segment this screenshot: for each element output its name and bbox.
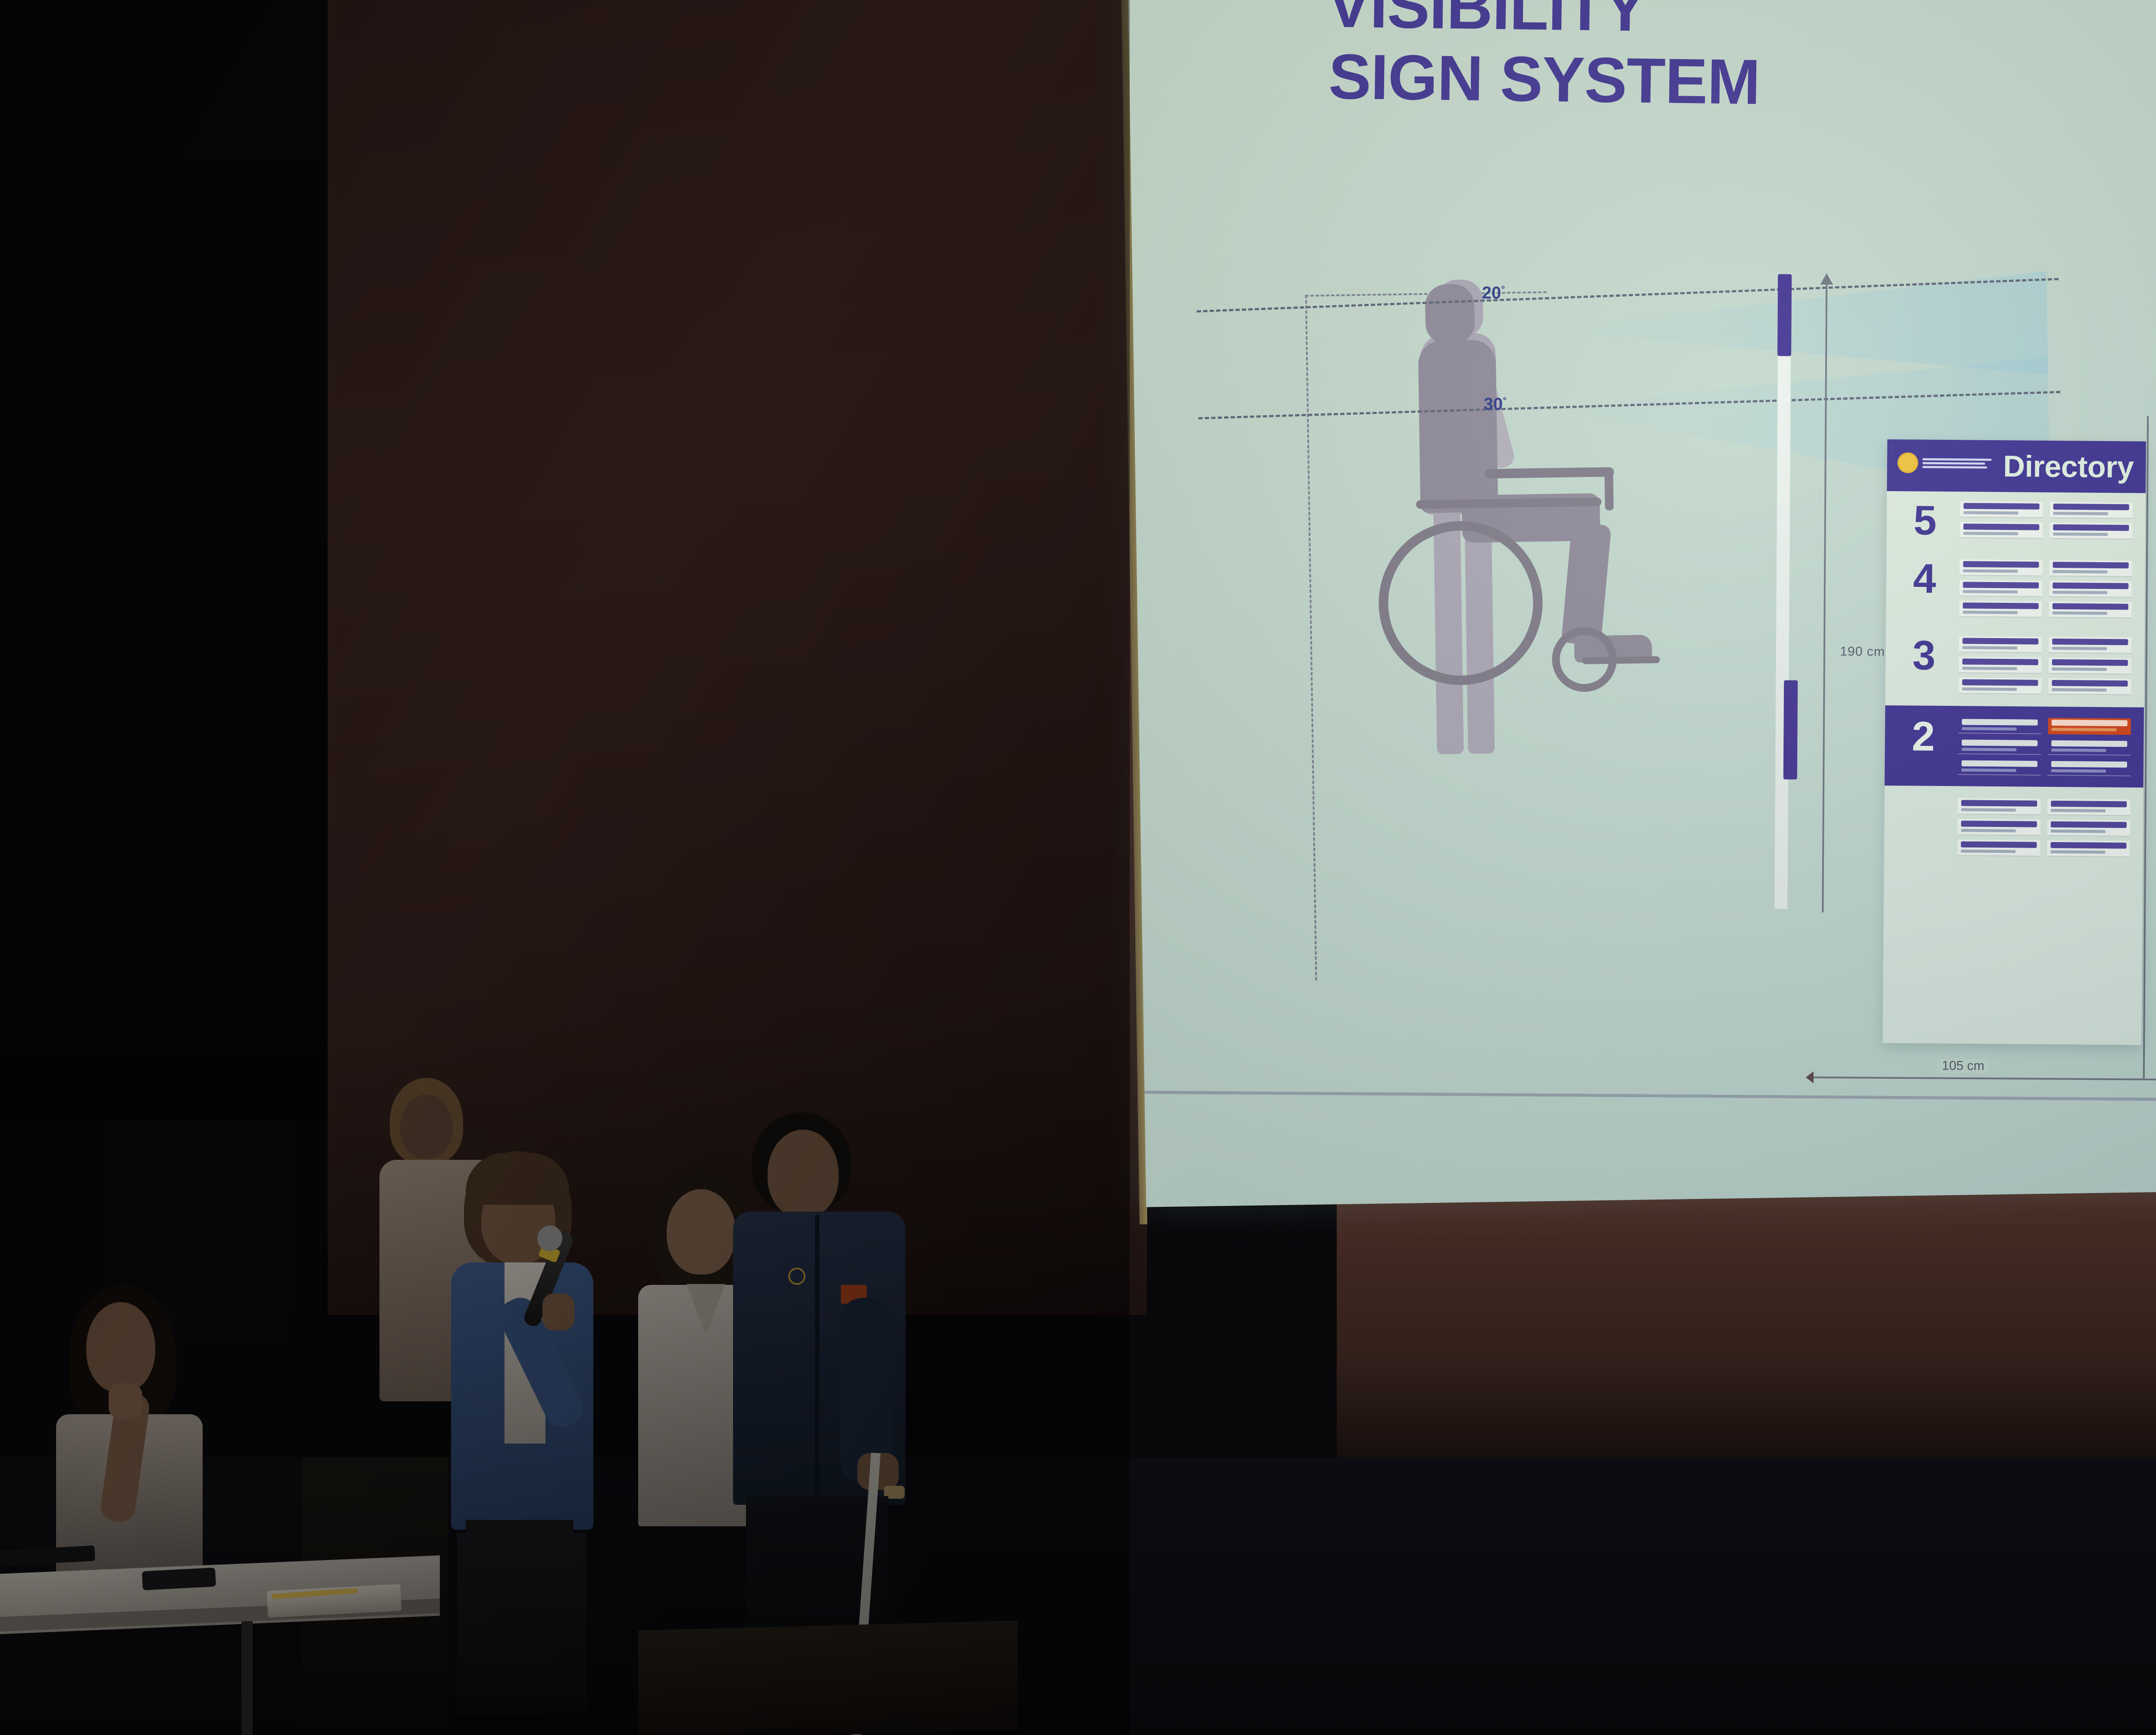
face bbox=[768, 1130, 839, 1218]
wheelchair-user-silhouette bbox=[1375, 337, 1666, 781]
directory-entry bbox=[1959, 657, 2042, 674]
directory-entry bbox=[2049, 601, 2132, 619]
table-leg bbox=[241, 1621, 253, 1735]
university-crest-icon bbox=[788, 1268, 805, 1285]
pole-segment-top bbox=[1777, 274, 1792, 356]
face bbox=[400, 1094, 453, 1159]
directory-entry bbox=[2049, 502, 2132, 519]
directory-entry bbox=[2047, 840, 2130, 858]
dimension-line-105cm bbox=[1812, 1077, 2156, 1080]
directory-entry bbox=[2049, 560, 2132, 577]
floor-block-2-highlighted: 2 bbox=[1885, 705, 2144, 788]
skirt bbox=[457, 1533, 586, 1714]
directory-entry bbox=[1958, 738, 2041, 755]
directory-entry bbox=[1959, 717, 2041, 734]
projection-screen: VISIBILITY SIGN SYSTEM 20° 30° bbox=[1128, 0, 2156, 1207]
directory-entry bbox=[2048, 739, 2131, 756]
pole-segment-bottom bbox=[1783, 680, 1798, 780]
floor-block-3: 3 bbox=[1885, 626, 2144, 705]
second-table bbox=[638, 1620, 1018, 1735]
directory-entry bbox=[2048, 759, 2131, 777]
hand-on-chin bbox=[109, 1383, 142, 1419]
measuring-pole bbox=[1774, 275, 1791, 909]
angle-label-20: 20° bbox=[1482, 283, 1505, 303]
floor-number bbox=[1897, 798, 1948, 856]
logo-wordmark bbox=[1922, 458, 1991, 468]
directory-sign-tall: Directory 5 4 3 bbox=[1883, 439, 2146, 1045]
floor-number: 4 bbox=[1899, 559, 1950, 617]
visibility-diagram: 20° 30° 190 cm 215 105 cm 75 cm 85 cm bbox=[1128, 0, 2156, 1207]
directory-sign-header: Directory bbox=[1887, 439, 2146, 493]
slide-bottom-rule bbox=[1144, 1091, 2156, 1104]
face bbox=[86, 1302, 155, 1393]
dimension-label-105cm: 105 cm bbox=[1937, 1059, 1989, 1074]
directory-entry bbox=[1959, 677, 2041, 695]
angle-label-30: 30° bbox=[1483, 395, 1507, 414]
hair-fringe bbox=[466, 1153, 569, 1205]
directory-entry bbox=[1959, 560, 2042, 577]
directory-entry bbox=[2049, 637, 2131, 654]
directory-entry bbox=[2048, 678, 2131, 695]
directory-entry bbox=[1958, 758, 2041, 776]
floor-block-4: 4 bbox=[1886, 549, 2145, 628]
directory-entry bbox=[2049, 658, 2131, 675]
hospital-logo bbox=[1897, 452, 1991, 474]
directory-entry bbox=[1957, 839, 2040, 857]
floor-number: 5 bbox=[1899, 501, 1951, 540]
floor-block-5: 5 bbox=[1887, 491, 2146, 551]
directory-entry bbox=[1959, 636, 2042, 654]
directory-entry bbox=[1960, 501, 2043, 518]
floor-number: 3 bbox=[1898, 636, 1949, 694]
directory-entry bbox=[1959, 601, 2042, 618]
smartphone[interactable] bbox=[142, 1568, 216, 1591]
directory-entry-alert bbox=[2048, 718, 2131, 735]
logo-emblem-icon bbox=[1897, 452, 1918, 473]
dimension-label-190cm: 190 cm bbox=[1840, 644, 1885, 659]
student-with-microphone bbox=[440, 1151, 647, 1669]
directory-entry bbox=[2049, 523, 2132, 540]
hand bbox=[542, 1293, 574, 1331]
student-right-with-cane bbox=[733, 1112, 918, 1673]
directory-entry bbox=[2049, 581, 2132, 598]
directory-title: Directory bbox=[2003, 449, 2134, 484]
directory-entry bbox=[1958, 798, 2040, 815]
shirt-placket bbox=[815, 1215, 819, 1500]
directory-entry bbox=[1958, 819, 2040, 836]
floor-number: 2 bbox=[1898, 717, 1949, 775]
directory-entry bbox=[2047, 820, 2130, 837]
face bbox=[667, 1189, 736, 1275]
dimension-line-190cm bbox=[1822, 274, 1827, 912]
directory-entry bbox=[2047, 799, 2130, 816]
floor-block-1 bbox=[1884, 788, 2143, 867]
left-dark-wall bbox=[0, 0, 345, 1121]
directory-entry bbox=[1960, 522, 2043, 539]
brown-wall-below-screen bbox=[1337, 1190, 2156, 1466]
directory-entry bbox=[1959, 580, 2042, 598]
